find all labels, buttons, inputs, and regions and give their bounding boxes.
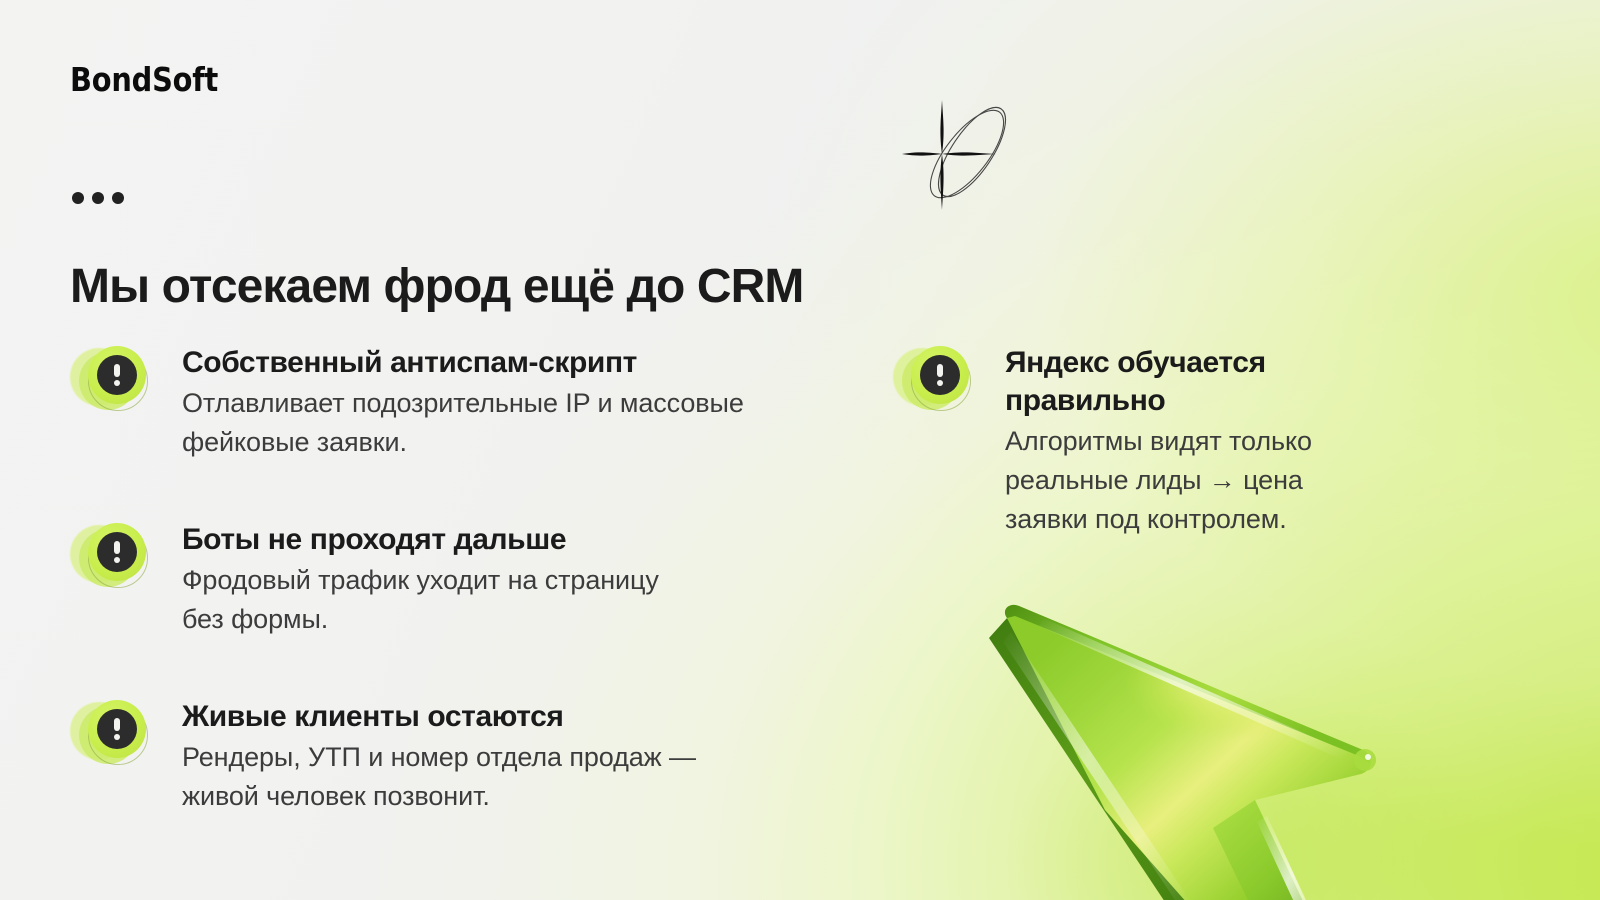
exclamation-dot-icon <box>114 557 121 564</box>
exclamation-badge <box>97 709 137 749</box>
exclamation-coin-icon <box>70 700 162 766</box>
dot-icon <box>72 192 84 204</box>
exclamation-badge <box>97 532 137 572</box>
exclamation-coin-icon <box>70 523 162 589</box>
exclamation-dot-icon <box>114 734 121 741</box>
exclamation-badge <box>97 355 137 395</box>
feature-description: Рендеры, УТП и номер отдела продаж — жив… <box>182 738 696 816</box>
features-left-column: Собственный антиспам-скрипт Отлавливает … <box>70 344 860 816</box>
exclamation-coin-icon <box>70 346 162 412</box>
features-right-column: Яндекс обучается правильно Алгоритмы вид… <box>893 344 1393 539</box>
exclamation-dot-icon <box>937 380 944 387</box>
exclamation-badge <box>920 355 960 395</box>
feature-title: Яндекс обучается правильно <box>1005 344 1312 420</box>
feature-item: Живые клиенты остаются Рендеры, УТП и но… <box>70 698 860 816</box>
page-title: Мы отсекаем фрод ещё до CRM <box>70 258 804 316</box>
exclamation-stem-icon <box>937 364 943 377</box>
eyebrow-dots <box>72 192 124 204</box>
exclamation-dot-icon <box>114 380 121 387</box>
dot-icon <box>92 192 104 204</box>
coin-face <box>88 700 146 758</box>
coin-face <box>911 346 969 404</box>
feature-description: Отлавливает подозрительные IP и массовые… <box>182 384 744 462</box>
exclamation-stem-icon <box>114 718 120 731</box>
feature-item: Боты не проходят дальше Фродовый трафик … <box>70 521 860 639</box>
feature-text: Живые клиенты остаются Рендеры, УТП и но… <box>182 698 696 816</box>
feature-title: Живые клиенты остаются <box>182 698 696 736</box>
feature-item: Собственный антиспам-скрипт Отлавливает … <box>70 344 860 462</box>
feature-description: Фродовый трафик уходит на страницу без ф… <box>182 561 659 639</box>
feature-title: Боты не проходят дальше <box>182 521 659 559</box>
feature-text: Яндекс обучается правильно Алгоритмы вид… <box>1005 344 1312 539</box>
feature-title: Собственный антиспам-скрипт <box>182 344 744 382</box>
exclamation-stem-icon <box>114 541 120 554</box>
slide-root: BondSoft Мы отсекаем фрод ещё до CRM <box>0 0 1600 900</box>
coin-face <box>88 523 146 581</box>
feature-description: Алгоритмы видят только реальные лиды → ц… <box>1005 422 1312 539</box>
feature-item: Яндекс обучается правильно Алгоритмы вид… <box>893 344 1393 539</box>
exclamation-stem-icon <box>114 364 120 377</box>
exclamation-coin-icon <box>893 346 985 412</box>
feature-text: Собственный антиспам-скрипт Отлавливает … <box>182 344 744 462</box>
coin-face <box>88 346 146 404</box>
brand-logo: BondSoft <box>70 60 218 100</box>
dot-icon <box>112 192 124 204</box>
feature-text: Боты не проходят дальше Фродовый трафик … <box>182 521 659 639</box>
